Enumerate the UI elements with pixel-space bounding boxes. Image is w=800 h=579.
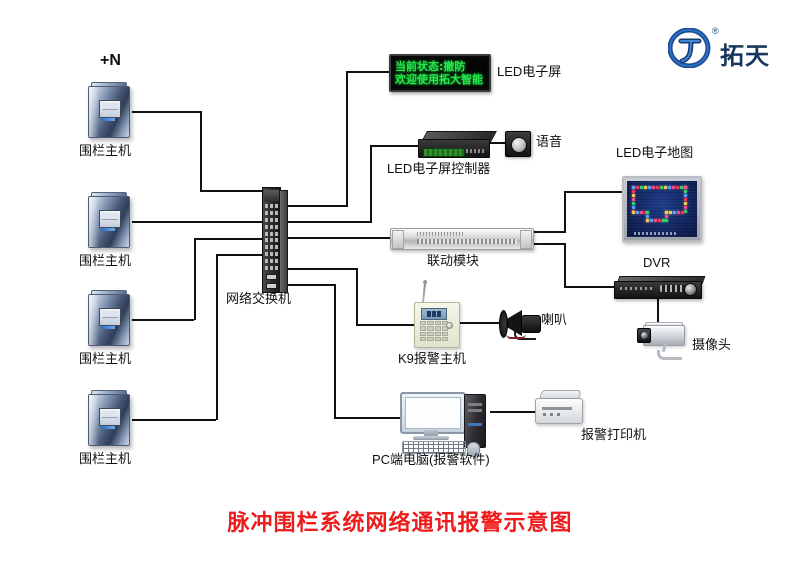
- wire-linkage-dvr-v: [564, 243, 566, 287]
- dvr-label: DVR: [643, 256, 670, 271]
- wire-switch-ledctrl-h: [286, 221, 372, 223]
- wire-host1-h: [132, 111, 202, 113]
- fence-host-label-2: 围栏主机: [79, 254, 131, 269]
- voice-module-icon[interactable]: [505, 131, 531, 157]
- wire-host3-h: [132, 319, 194, 321]
- led-map-icon[interactable]: [622, 176, 702, 242]
- wire-switch-ledctrl-h2: [370, 145, 420, 147]
- wire-switch-pc-h2: [334, 417, 402, 419]
- alarm-host-label: K9报警主机: [398, 352, 466, 367]
- diagram-title: 脉冲围栏系统网络通讯报警示意图: [0, 505, 800, 537]
- wire-host3-v: [194, 238, 196, 320]
- horn-label: 喇叭: [541, 313, 567, 328]
- brand-name: 拓天: [720, 36, 770, 71]
- wire-k9-horn: [458, 322, 502, 324]
- wire-host1-v: [200, 111, 202, 191]
- cctv-camera-icon[interactable]: [637, 325, 693, 359]
- fence-host-label-4: 围栏主机: [79, 452, 131, 467]
- linkage-module-icon[interactable]: [390, 228, 534, 250]
- pc-label: PC端电脑(报警软件): [372, 453, 490, 468]
- wire-linkage-ledmap-h: [532, 231, 566, 233]
- linkage-module-label: 联动模块: [427, 254, 479, 269]
- wire-switch-ledscreen-h2: [346, 71, 390, 73]
- led-controller-icon[interactable]: [418, 131, 492, 157]
- wire-host1-h2: [200, 190, 264, 192]
- wire-switch-k9-v: [356, 268, 358, 325]
- wire-host2-h: [132, 221, 264, 223]
- fence-host-icon[interactable]: [88, 86, 130, 138]
- printer-icon[interactable]: [535, 390, 583, 424]
- brand-logo: ® 拓天: [668, 26, 790, 72]
- wire-switch-pc-v: [334, 284, 336, 418]
- wire-switch-linkage-h: [286, 237, 391, 239]
- alarm-host-icon[interactable]: [414, 302, 458, 346]
- wire-switch-k9-h: [286, 268, 358, 270]
- fence-host-icon[interactable]: [88, 294, 130, 346]
- led-display-icon[interactable]: 当前状态:撤防 欢迎使用拓大智能: [389, 54, 491, 92]
- registered-mark: ®: [712, 26, 719, 36]
- dvr-icon[interactable]: [614, 276, 702, 298]
- fence-host-label-1: 围栏主机: [79, 144, 131, 159]
- wire-host4-h: [132, 419, 216, 421]
- diagram-canvas: ® 拓天 +N 围栏主机: [0, 0, 800, 579]
- network-switch-icon[interactable]: [262, 187, 286, 291]
- fence-host-icon[interactable]: [88, 196, 130, 248]
- wire-switch-ledscreen-v: [346, 71, 348, 206]
- network-switch-label: 网络交换机: [226, 292, 291, 307]
- wire-host4-h2: [216, 254, 264, 256]
- wire-pc-printer: [490, 411, 536, 413]
- wire-linkage-dvr-h2: [564, 286, 616, 288]
- voice-label: 语音: [536, 135, 562, 150]
- led-screen-label: LED电子屏: [497, 65, 561, 80]
- camera-label: 摄像头: [692, 338, 731, 353]
- desktop-computer-icon[interactable]: [400, 392, 496, 454]
- plus-n-label: +N: [100, 52, 121, 70]
- led-screen-line2: 欢迎使用拓大智能: [393, 73, 487, 86]
- printer-label: 报警打印机: [581, 428, 646, 443]
- wire-switch-k9-h2: [356, 324, 415, 326]
- wire-linkage-ledmap-h2: [564, 191, 624, 193]
- wire-linkage-ledmap-v: [564, 191, 566, 232]
- wire-switch-ledscreen-h: [286, 205, 348, 207]
- fence-host-icon[interactable]: [88, 394, 130, 446]
- wire-switch-pc-h: [286, 284, 336, 286]
- wire-host3-h2: [194, 238, 264, 240]
- wire-linkage-dvr-h: [532, 243, 566, 245]
- led-controller-label: LED电子屏控制器: [387, 162, 490, 177]
- fence-host-label-3: 围栏主机: [79, 352, 131, 367]
- led-map-label: LED电子地图: [616, 146, 693, 161]
- led-screen-line1: 当前状态:撤防: [393, 60, 487, 73]
- wire-host4-v: [216, 254, 218, 420]
- wire-switch-ledctrl-v: [370, 145, 372, 222]
- tuotian-emblem-icon: [668, 28, 712, 68]
